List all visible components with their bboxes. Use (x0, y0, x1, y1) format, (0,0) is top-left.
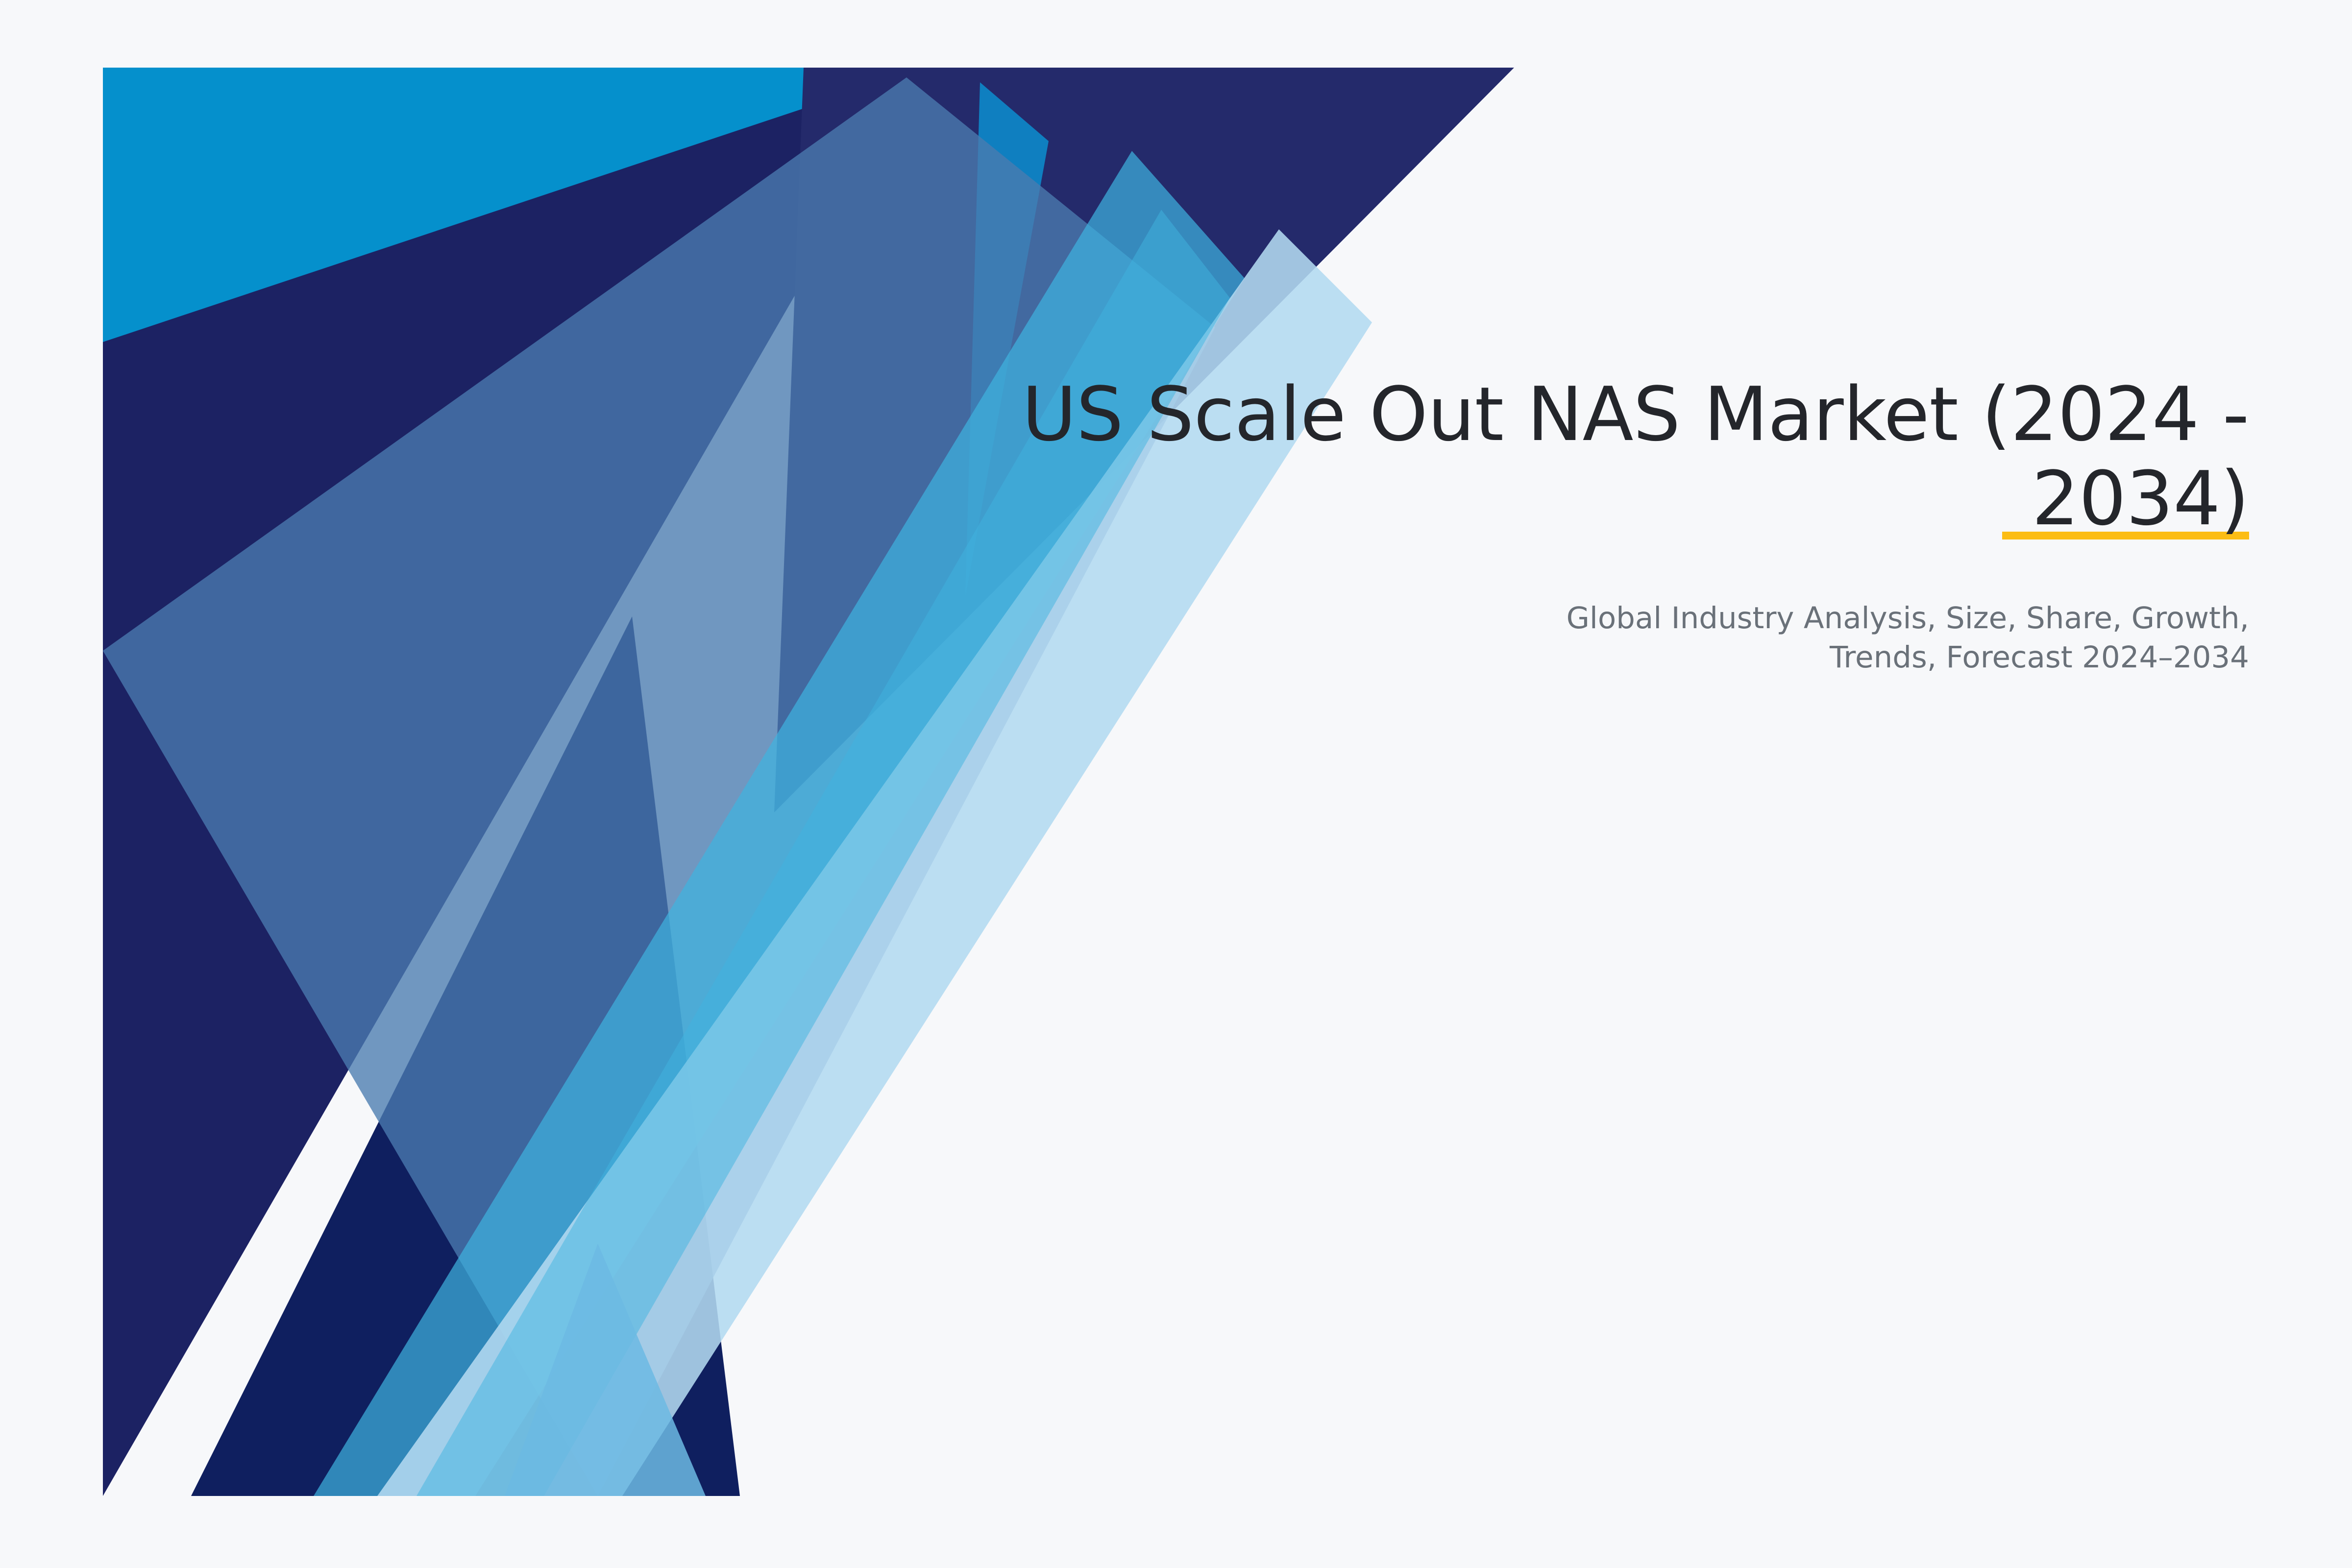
abstract-geometric-artwork (103, 68, 1514, 1496)
page-title: US Scale Out NAS Market (2024 - 2034) (980, 372, 2249, 541)
slide-canvas: US Scale Out NAS Market (2024 - 2034) Gl… (0, 0, 2352, 1568)
artwork-svg (103, 68, 1514, 1496)
page-subtitle: Global Industry Analysis, Size, Share, G… (980, 541, 2249, 678)
title-block: US Scale Out NAS Market (2024 - 2034) Gl… (980, 372, 2249, 678)
title-wrapper: US Scale Out NAS Market (2024 - 2034) (980, 372, 2249, 541)
